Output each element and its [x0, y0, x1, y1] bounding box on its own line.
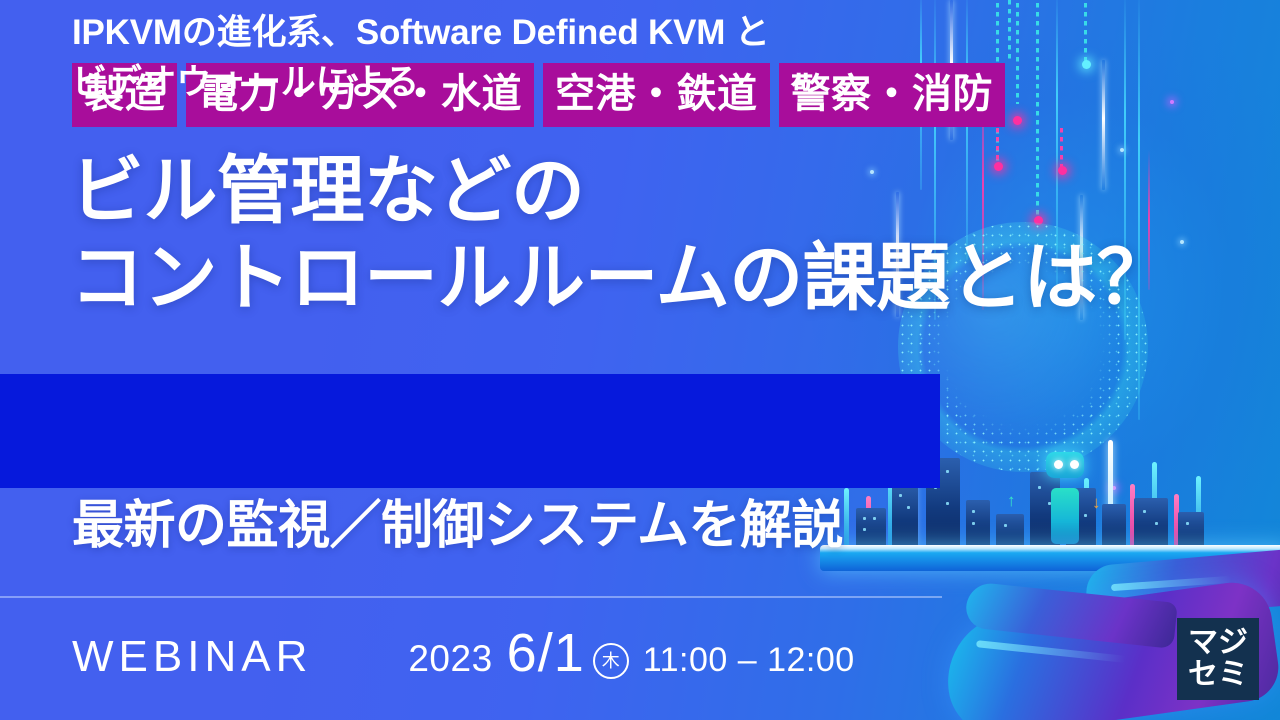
event-date: 6/1 — [507, 622, 585, 684]
skyline-antenna — [1084, 478, 1089, 550]
page-title: ビル管理などの コントロールルームの課題とは？ — [70, 148, 1080, 321]
subtitle: IPKVMの進化系、Software Defined KVM と ビデオウォール… — [72, 8, 1266, 107]
skyline-building — [1030, 472, 1060, 550]
headline-line-1: ビル管理などの — [70, 148, 1080, 235]
hand-finger — [1084, 545, 1280, 623]
robot-eye — [1054, 460, 1063, 469]
skyline-building — [966, 500, 990, 550]
event-footer: WEBINAR 2023 6/1 木 11:00 – 12:00 — [72, 622, 855, 684]
subtitle-line-2: ビデオウォールによる — [72, 58, 1266, 108]
skyline-antenna — [1152, 462, 1157, 550]
skyline-antenna — [1130, 484, 1135, 550]
skyline-building — [996, 514, 1024, 550]
event-type-label: WEBINAR — [72, 632, 312, 682]
skyline-antenna — [844, 488, 849, 550]
skyline-building — [856, 508, 886, 550]
hand-highlight — [976, 640, 1126, 663]
skyline-building — [892, 482, 918, 550]
tagline: 最新の監視／制御システムを解説 — [72, 498, 843, 555]
particle-spark — [1112, 486, 1116, 490]
majiseminar-logo: マジ セミ — [1177, 618, 1259, 700]
up-arrow-icon: ↑ — [1007, 492, 1016, 509]
robot-figure — [1038, 452, 1092, 548]
down-arrow-icon: ↓ — [1092, 494, 1101, 511]
floating-platform — [820, 545, 1280, 571]
particle-spark — [1180, 240, 1184, 244]
hand-highlight — [1111, 576, 1231, 591]
skyline-antenna — [1196, 476, 1201, 550]
logo-line-2: セミ — [1188, 659, 1248, 691]
skyline-antenna — [866, 496, 871, 550]
webinar-banner: ↑ ↓ 製造 電力・ガス・水道 空港・鉄道 警察・消防 ビル管理などの コントロ… — [0, 0, 1280, 720]
subtitle-band — [0, 374, 940, 488]
robot-body — [1051, 488, 1079, 544]
particle-spark — [1120, 148, 1124, 152]
headline-line-2: コントロールルームの課題とは？ — [70, 235, 1080, 322]
hand-finger — [964, 581, 1178, 649]
skyline-antenna — [1174, 494, 1179, 550]
skyline-building — [1102, 504, 1126, 550]
logo-line-1: マジ — [1188, 627, 1248, 659]
event-time: 11:00 – 12:00 — [643, 641, 855, 680]
skyline-antenna — [1108, 440, 1113, 550]
subtitle-line-1: IPKVMの進化系、Software Defined KVM と — [72, 8, 1266, 58]
event-year: 2023 — [408, 638, 492, 680]
skyline-building — [1134, 498, 1168, 550]
robot-eye — [1070, 460, 1079, 469]
glow-node — [1013, 116, 1022, 125]
divider — [0, 596, 942, 598]
robot-head — [1046, 452, 1084, 478]
skyline-building — [1178, 512, 1204, 550]
skyline-building — [1066, 488, 1096, 550]
event-day-of-week: 木 — [593, 643, 629, 679]
